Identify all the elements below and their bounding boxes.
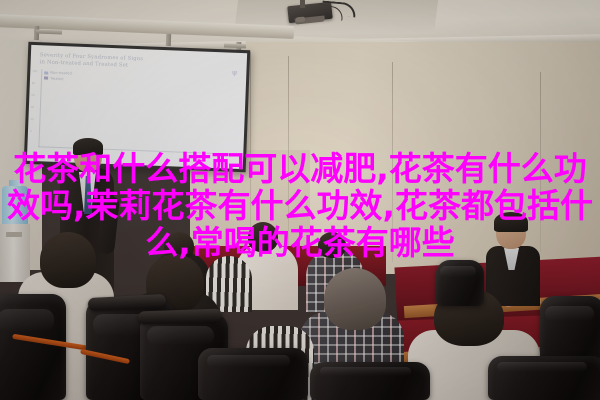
- audience-head: [324, 268, 386, 330]
- legend-swatch-icon: [44, 76, 48, 79]
- screen-bracket-mid: [166, 34, 171, 46]
- office-chair: [436, 260, 484, 306]
- legend-swatch-icon: [44, 71, 48, 74]
- slide-logo: ψ: [232, 69, 238, 77]
- chart-y-tick-label: 40: [31, 106, 34, 109]
- chart-y-tick-label: 0: [30, 130, 32, 133]
- chart-legend: Non-treated Treated: [44, 70, 72, 82]
- screen-bracket-arm-left: [36, 30, 62, 35]
- legend-label: Treated: [50, 76, 64, 81]
- office-chair: [198, 348, 308, 400]
- title-line-1: 花茶和什么搭配可以减肥,花茶有什么功: [13, 149, 587, 188]
- legend-label: Non-treated: [50, 71, 72, 76]
- projector-mount: [300, 0, 305, 8]
- screenshot-canvas: Severity of Four Syndromes of Signs in N…: [0, 0, 600, 400]
- office-chair: [0, 294, 66, 400]
- chart-y-tick-label: 60: [31, 94, 34, 97]
- chart-y-tick-label: 20: [30, 118, 33, 121]
- office-chair: [310, 362, 430, 400]
- legend-item-non-treated: Non-treated: [44, 70, 72, 75]
- chart-y-tick-label: 80: [32, 82, 35, 85]
- article-title-overlay: 花茶和什么搭配可以减肥,花茶有什么功效吗,茉莉花茶有什么功效,花茶都包括什么,常…: [0, 150, 600, 261]
- chart-y-tick-label: 100: [32, 70, 37, 73]
- title-line-2: 效吗,茉莉花茶有什么功效,花茶都包括: [7, 186, 560, 225]
- chart-bars: [41, 84, 237, 153]
- office-chair: [488, 356, 600, 400]
- projector-lens-icon: [296, 17, 305, 23]
- legend-item-treated: Treated: [44, 76, 72, 81]
